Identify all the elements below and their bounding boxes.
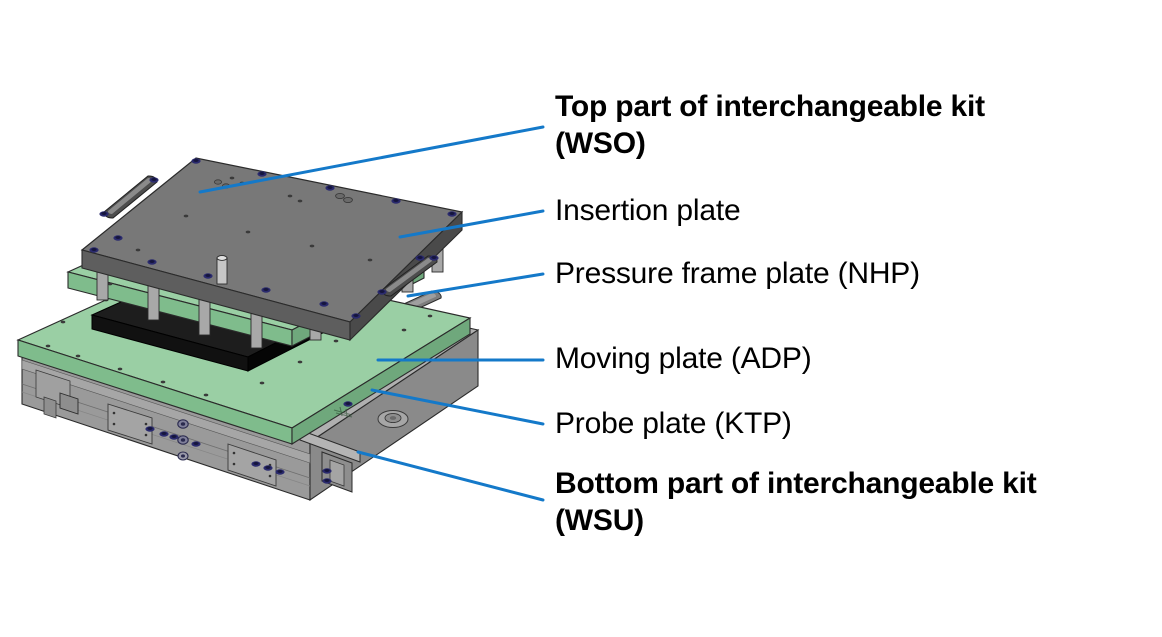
label-column: Top part of interchangeable kit (WSO) In… [0, 0, 1162, 637]
label-adp: Moving plate (ADP) [555, 340, 812, 377]
label-nhp: Pressure frame plate (NHP) [555, 255, 920, 292]
label-wso: Top part of interchangeable kit (WSO) [555, 88, 985, 162]
diagram-canvas: Top part of interchangeable kit (WSO) In… [0, 0, 1162, 637]
label-insertion-plate: Insertion plate [555, 192, 740, 229]
label-wsu: Bottom part of interchangeable kit (WSU) [555, 465, 1037, 539]
label-ktp: Probe plate (KTP) [555, 405, 792, 442]
